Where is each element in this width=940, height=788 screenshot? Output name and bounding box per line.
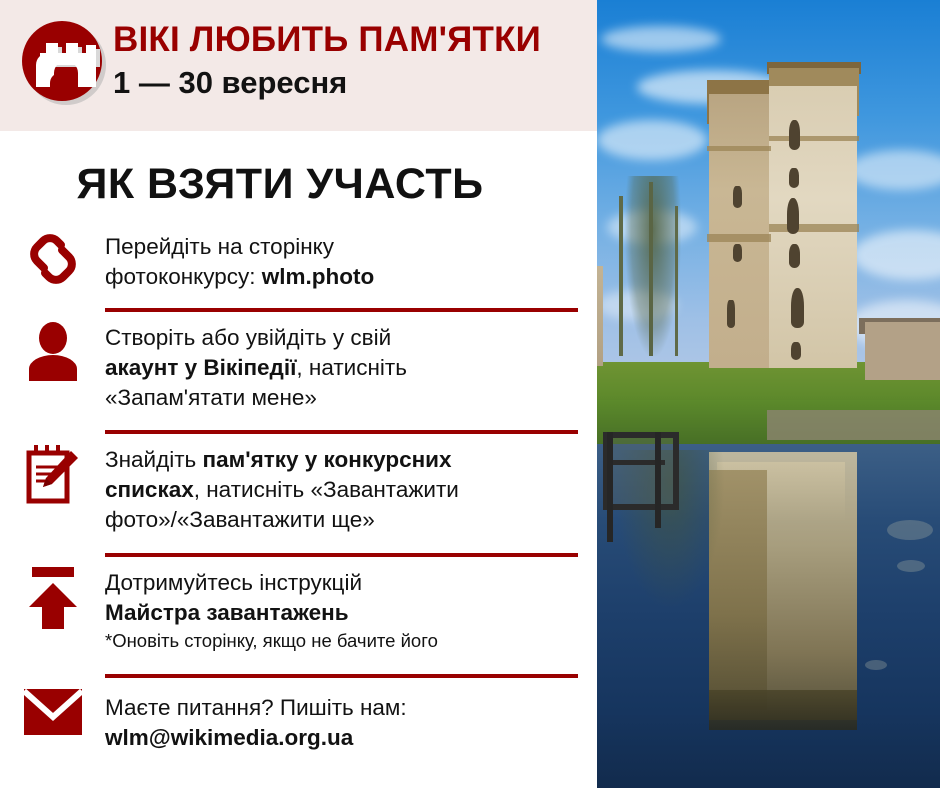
gate-post — [655, 432, 661, 528]
tower-window — [787, 198, 799, 234]
step-line: Створіть або увійдіть у свій — [105, 323, 578, 353]
outbuilding — [865, 322, 940, 380]
step-item-contact: Маєте питання? Пишіть нам: wlm@wikimedia… — [0, 689, 597, 769]
step-divider — [105, 553, 578, 557]
gate-post — [607, 432, 613, 542]
step-line-bold[interactable]: wlm@wikimedia.org.ua — [105, 725, 353, 750]
step-line: wlm@wikimedia.org.ua — [105, 723, 578, 753]
link-chain-icon — [0, 231, 105, 287]
castle-tower — [709, 48, 857, 368]
how-to-participate-heading: ЯК ВЗЯТИ УЧАСТЬ — [0, 160, 560, 209]
step-line: Маєте питання? Пишіть нам: — [105, 693, 578, 723]
poster-title: ВІКІ ЛЮБИТЬ ПАМ'ЯТКИ — [113, 18, 593, 62]
step-divider — [105, 430, 578, 434]
step-line-bold: Майстра завантажень — [105, 600, 349, 625]
bare-tree-trunk — [619, 196, 623, 356]
poster-date: 1 — 30 вересня — [113, 62, 593, 104]
water-ripple — [887, 520, 933, 540]
step-line-bold: списках — [105, 477, 194, 502]
tower-window — [727, 300, 735, 328]
step-footnote: *Оновіть сторінку, якщо не бачите його — [105, 628, 578, 654]
tower-window — [733, 244, 742, 262]
step-line: Перейдіть на сторінку — [105, 232, 578, 262]
castle-tower-photo: Фото: Posterrr, CC BY-SA 4.0 CC BY SA — [597, 0, 940, 788]
step-line: фото»/«Завантажити ще» — [105, 505, 578, 535]
step-line: Дотримуйтесь інструкцій — [105, 568, 578, 598]
instructions-column: ЯК ВЗЯТИ УЧАСТЬ Перейдіть на сторінку фо… — [0, 131, 597, 788]
tower-band — [707, 146, 771, 151]
tower-window — [789, 120, 800, 150]
notepad-pencil-icon — [0, 443, 105, 505]
poster-root: ВІКІ ЛЮБИТЬ ПАМ'ЯТКИ 1 — 30 вересня ЯК В… — [0, 0, 940, 788]
step-line-plain: , натисніть — [296, 355, 407, 380]
step-item-lists: Знайдіть пам'ятку у конкурсних списках, … — [0, 443, 597, 548]
header-text-block: ВІКІ ЛЮБИТЬ ПАМ'ЯТКИ 1 — 30 вересня — [113, 18, 593, 104]
step-text-block: Маєте питання? Пишіть нам: wlm@wikimedia… — [105, 689, 597, 753]
header-band: ВІКІ ЛЮБИТЬ ПАМ'ЯТКИ 1 — 30 вересня — [0, 0, 597, 131]
upload-arrow-icon — [0, 567, 105, 629]
tower-window — [789, 244, 800, 268]
dirt-patch — [767, 410, 940, 440]
water-ripple — [865, 660, 887, 670]
step-line: фотоконкурсу: wlm.photo — [105, 262, 578, 292]
step-line-plain: Знайдіть — [105, 447, 203, 472]
cloud — [597, 120, 707, 160]
step-item-link: Перейдіть на сторінку фотоконкурсу: wlm.… — [0, 231, 597, 304]
wiki-loves-monuments-logo — [14, 13, 114, 113]
water-ripple — [897, 560, 925, 572]
tower-band — [769, 224, 859, 232]
step-line: акаунт у Вікіпедії, натисніть — [105, 353, 578, 383]
step-text-block: Створіть або увійдіть у свій акаунт у Ві… — [105, 321, 597, 413]
step-line-bold[interactable]: wlm.photo — [262, 264, 374, 289]
step-line: списках, натисніть «Завантажити — [105, 475, 578, 505]
tower-reflection-battlements — [709, 690, 857, 730]
step-line-bold: пам'ятку у конкурсних — [203, 447, 452, 472]
step-line-bold: акаунт у Вікіпедії — [105, 355, 296, 380]
step-divider — [105, 674, 578, 678]
tower-window — [791, 342, 801, 360]
step-text-block: Знайдіть пам'ятку у конкурсних списках, … — [105, 443, 597, 535]
step-line: Знайдіть пам'ятку у конкурсних — [105, 445, 578, 475]
tower-band — [769, 136, 859, 141]
user-person-icon — [0, 321, 105, 381]
step-item-account: Створіть або увійдіть у свій акаунт у Ві… — [0, 321, 597, 426]
envelope-mail-icon — [0, 689, 105, 735]
step-item-upload-wizard: Дотримуйтесь інструкцій Майстра завантаж… — [0, 567, 597, 670]
tower-window — [733, 186, 742, 208]
tower-face-left — [709, 94, 769, 368]
step-text-block: Дотримуйтесь інструкцій Майстра завантаж… — [105, 567, 597, 654]
conifer-tree — [625, 176, 681, 356]
tower-window — [791, 288, 804, 328]
step-line: «Запам'ятати мене» — [105, 383, 578, 413]
step-line-plain: , натисніть «Завантажити — [194, 477, 459, 502]
step-divider — [105, 308, 578, 312]
step-text-block: Перейдіть на сторінку фотоконкурсу: wlm.… — [105, 231, 597, 292]
cloud — [601, 26, 721, 52]
step-line-plain: фотоконкурсу: — [105, 264, 262, 289]
tower-window — [789, 168, 799, 188]
step-line: Майстра завантажень — [105, 598, 578, 628]
bare-tree-trunk — [649, 182, 653, 356]
metal-gate — [603, 432, 679, 510]
bare-tree-trunk — [675, 206, 678, 356]
ruined-wall — [597, 266, 603, 366]
tower-band — [707, 234, 771, 242]
